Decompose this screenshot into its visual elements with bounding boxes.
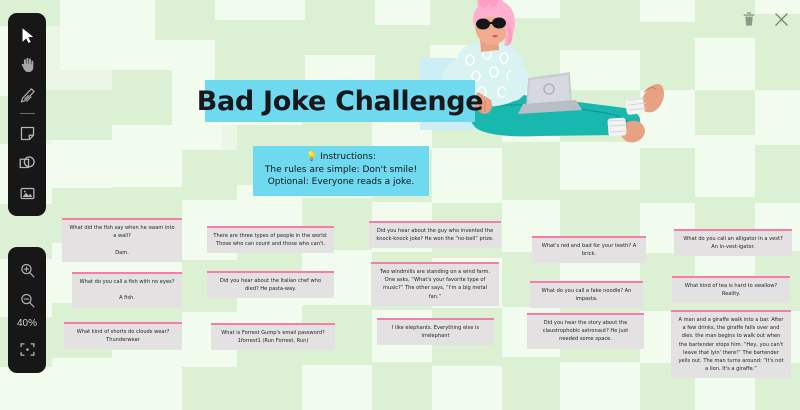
background-block — [500, 18, 560, 80]
sticky-note-text: I like elephants. Everything else is irr… — [383, 324, 488, 340]
sticky-note[interactable]: There are three types of people in the w… — [207, 226, 334, 253]
background-block — [155, 0, 215, 40]
title-banner[interactable]: Bad Joke Challenge — [205, 80, 475, 122]
shapes-tool[interactable] — [12, 148, 42, 178]
sticky-note-text: What's red and bad for your teeth? A bri… — [538, 242, 640, 258]
delete-button[interactable] — [741, 10, 757, 28]
top-right-controls[interactable] — [741, 10, 790, 28]
sticky-note[interactable]: Did you hear the story about the claustr… — [527, 313, 644, 349]
image-tool[interactable] — [12, 178, 42, 208]
background-block — [305, 0, 375, 55]
background-block — [215, 0, 305, 20]
toolbar-divider — [20, 113, 35, 114]
sticky-note-text: What kind of shorts do clouds wear? Thun… — [70, 328, 176, 344]
instructions-optional-line: Optional: Everyone reads a joke. — [261, 176, 421, 189]
sticky-note[interactable]: What's red and bad for your teeth? A bri… — [532, 236, 646, 263]
background-block — [640, 22, 695, 90]
zoom-out-button[interactable] — [12, 285, 42, 315]
background-block — [112, 125, 182, 187]
sticky-note[interactable]: What kind of shorts do clouds wear? Thun… — [64, 322, 182, 349]
sticky-note-text: What kind of tea is hard to swallow? Rea… — [678, 282, 784, 298]
background-block — [755, 145, 800, 203]
sticky-note-text: What do you call an alligator in a vest?… — [680, 235, 786, 251]
background-block — [695, 90, 755, 135]
background-block — [215, 20, 305, 80]
background-block — [182, 150, 237, 200]
background-block — [560, 50, 640, 90]
sticky-note[interactable]: What do you call an alligator in a vest?… — [674, 229, 792, 256]
background-block — [502, 80, 560, 142]
background-block — [502, 357, 560, 410]
sticky-note[interactable]: Did you hear about the Italian chef who … — [207, 271, 334, 298]
sticky-note[interactable]: Did you hear about the guy who invented … — [369, 221, 501, 248]
sticky-note[interactable]: Two windmills are standing on a wind far… — [371, 262, 499, 306]
background-block — [560, 362, 640, 410]
background-block — [372, 362, 432, 410]
background-block — [112, 350, 182, 410]
sticky-note[interactable]: What did the fish say when he swam into … — [62, 218, 182, 262]
fit-to-screen-button[interactable] — [12, 334, 42, 364]
sticky-note-text: Did you hear about the Italian chef who … — [213, 277, 328, 293]
background-block — [560, 90, 640, 142]
select-tool[interactable] — [12, 20, 42, 50]
background-block — [432, 148, 502, 203]
background-block — [695, 135, 755, 197]
background-block — [695, 38, 755, 90]
sticky-note[interactable]: What kind of tea is hard to swallow? Rea… — [672, 276, 790, 303]
background-block — [432, 366, 502, 410]
sticky-note[interactable]: A man and a giraffe walk into a bar. Aft… — [671, 310, 791, 378]
zoom-toolbar[interactable]: 40% — [8, 247, 46, 373]
background-block — [430, 0, 500, 45]
background-block — [500, 0, 560, 18]
sticky-note-text: Two windmills are standing on a wind far… — [377, 268, 493, 301]
sticky-note-text: There are three types of people in the w… — [213, 232, 328, 248]
background-block — [640, 0, 695, 22]
background-block — [640, 148, 695, 203]
sticky-note-text: Did you hear the story about the claustr… — [533, 319, 638, 344]
background-block — [560, 0, 640, 50]
background-block — [560, 142, 640, 190]
pen-tool[interactable] — [12, 80, 42, 110]
sticky-note-text: Did you hear about the guy who invented … — [375, 227, 495, 243]
background-block — [60, 0, 155, 12]
background-block — [755, 90, 800, 145]
sticky-note[interactable]: What do you call a fish with no eyes? A … — [72, 272, 182, 308]
sticky-note-text: What do you call a fake noodle? An impas… — [536, 287, 637, 303]
sticky-note-text: What do you call a fish with no eyes? A … — [78, 278, 176, 303]
background-block — [52, 140, 112, 188]
background-block — [375, 0, 430, 25]
zoom-in-button[interactable] — [12, 255, 42, 285]
background-block — [0, 367, 52, 410]
sticky-note-text: What is Forrest Gump's email password? 1… — [217, 329, 329, 345]
main-toolbar[interactable] — [8, 13, 46, 216]
instructions-rule-line: The rules are simple: Don't smile! — [261, 164, 421, 177]
background-block — [60, 12, 155, 70]
whiteboard-canvas[interactable]: Bad Joke Challenge 💡 Instructions: The r… — [0, 0, 800, 410]
background-block — [182, 367, 237, 410]
background-block — [112, 70, 172, 125]
background-block — [237, 350, 302, 410]
sticky-note[interactable]: I like elephants. Everything else is irr… — [377, 318, 494, 345]
sticky-note[interactable]: What is Forrest Gump's email password? 1… — [211, 323, 335, 350]
page-title: Bad Joke Challenge — [197, 86, 484, 117]
background-block — [502, 142, 560, 200]
background-block — [302, 365, 372, 410]
sticky-note-text: A man and a giraffe walk into a bar. Aft… — [677, 316, 785, 373]
hand-tool[interactable] — [12, 50, 42, 80]
background-block — [52, 358, 112, 410]
sticky-note-tool[interactable] — [12, 118, 42, 148]
background-block — [42, 90, 112, 140]
instructions-box[interactable]: 💡 Instructions: The rules are simple: Do… — [253, 146, 429, 196]
instructions-heading: 💡 Instructions: — [261, 151, 421, 164]
background-block — [640, 90, 695, 148]
sticky-note-text: What did the fish say when he swam into … — [68, 224, 176, 257]
close-button[interactable] — [773, 11, 790, 28]
sticky-note[interactable]: What do you call a fake noodle? An impas… — [530, 281, 643, 308]
zoom-level-label[interactable]: 40% — [17, 315, 37, 334]
